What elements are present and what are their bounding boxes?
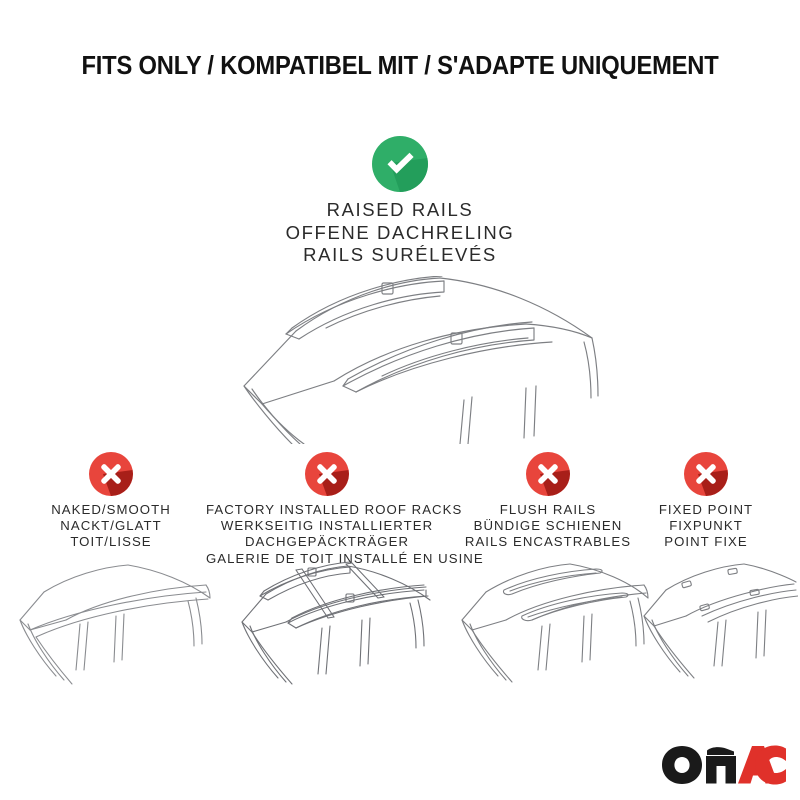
omac-logo xyxy=(660,742,786,786)
x-glyph xyxy=(526,452,570,496)
label-line-de-1: WERKSEITIG INSTALLIERTER xyxy=(206,518,448,534)
car-roof-with-raised-rails-illustration xyxy=(196,276,604,444)
logo-letter-o xyxy=(662,746,702,784)
x-circle-icon xyxy=(684,452,728,496)
label-line-de: BÜNDIGE SCHIENEN xyxy=(448,518,648,534)
compatible-label-en: RAISED RAILS xyxy=(0,199,800,222)
label-line-en: NAKED/SMOOTH xyxy=(11,502,211,518)
label-line-de-2: DACHGEPÄCKTRÄGER xyxy=(206,534,448,550)
label-line-en: FIXED POINT xyxy=(627,502,785,518)
logo-overline-mark xyxy=(707,747,734,755)
compatible-labels: RAISED RAILS OFFENE DACHRELING RAILS SUR… xyxy=(0,199,800,267)
x-circle-icon xyxy=(305,452,349,496)
label-line-fr: TOIT/LISSE xyxy=(11,534,211,550)
check-glyph xyxy=(372,136,428,192)
incompatible-labels: NAKED/SMOOTH NACKT/GLATT TOIT/LISSE xyxy=(11,502,211,551)
label-line-fr: RAILS ENCASTRABLES xyxy=(448,534,648,550)
x-glyph xyxy=(684,452,728,496)
check-circle-icon xyxy=(372,136,428,192)
compatibility-infographic: FITS ONLY / KOMPATIBEL MIT / S'ADAPTE UN… xyxy=(0,0,800,800)
label-line-en: FLUSH RAILS xyxy=(448,502,648,518)
compatible-label-de: OFFENE DACHRELING xyxy=(0,222,800,245)
incompatible-labels: FLUSH RAILS BÜNDIGE SCHIENEN RAILS ENCAS… xyxy=(448,502,648,551)
car-roof-naked-smooth-illustration xyxy=(6,558,216,696)
label-line-de: FIXPUNKT xyxy=(627,518,785,534)
label-line-en: FACTORY INSTALLED ROOF RACKS xyxy=(206,502,448,518)
label-line-fr: POINT FIXE xyxy=(627,534,785,550)
page-title: FITS ONLY / KOMPATIBEL MIT / S'ADAPTE UN… xyxy=(28,52,772,81)
label-line-de: NACKT/GLATT xyxy=(11,518,211,534)
car-roof-fixed-point-illustration xyxy=(632,558,798,690)
compatible-label-fr: RAILS SURÉLEVÉS xyxy=(0,244,800,267)
car-roof-flush-rails-illustration xyxy=(446,558,652,694)
incompatible-labels: FIXED POINT FIXPUNKT POINT FIXE xyxy=(627,502,785,551)
x-glyph xyxy=(305,452,349,496)
logo-letter-m xyxy=(706,756,736,784)
x-glyph xyxy=(89,452,133,496)
x-circle-icon xyxy=(89,452,133,496)
x-circle-icon xyxy=(526,452,570,496)
car-roof-with-factory-crossbars-illustration xyxy=(222,558,438,700)
